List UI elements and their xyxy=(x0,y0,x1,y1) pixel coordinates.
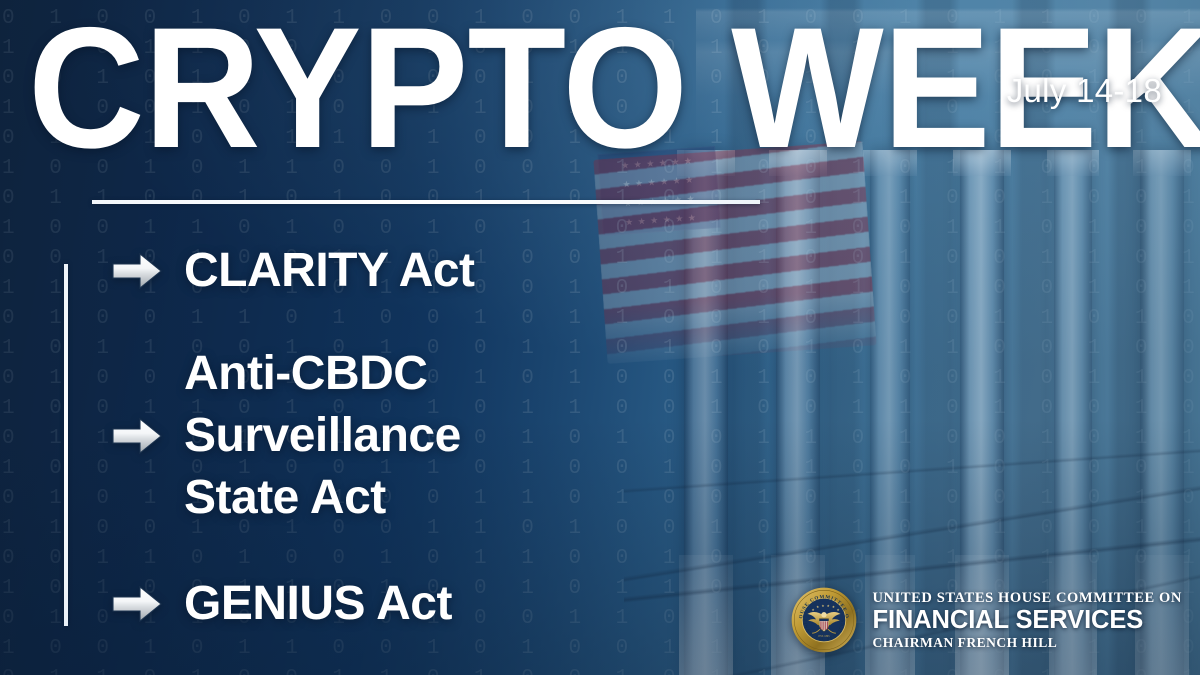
arrow-right-icon xyxy=(112,585,162,623)
list-item-label: CLARITY Act xyxy=(184,240,475,301)
committee-logo-lockup: HOUSE COMMITTEE ON FINANCIAL SERVICES ★★… xyxy=(791,587,1182,653)
bill-list: CLARITY Act Anti-CBDC Surveillance State… xyxy=(112,236,732,634)
list-item: Anti-CBDC Surveillance State Act xyxy=(112,343,732,529)
arrow-right-icon xyxy=(112,252,162,290)
list-item: CLARITY Act xyxy=(112,240,732,301)
logo-line-2: FINANCIAL SERVICES xyxy=(872,607,1182,634)
list-item-label: Anti-CBDC Surveillance State Act xyxy=(184,343,461,529)
logo-text-block: UNITED STATES HOUSE COMMITTEE ON FINANCI… xyxy=(872,590,1182,651)
list-item: GENIUS Act xyxy=(112,573,732,634)
list-item-label: GENIUS Act xyxy=(184,573,452,634)
svg-text:EST. 1865: EST. 1865 xyxy=(819,635,831,638)
logo-line-1: UNITED STATES HOUSE COMMITTEE ON xyxy=(872,590,1182,607)
date-label: July 14-18 xyxy=(1007,72,1162,110)
house-committee-financial-services-seal-icon: HOUSE COMMITTEE ON FINANCIAL SERVICES ★★… xyxy=(791,587,857,653)
crypto-week-graphic: 0 1 0 0 1 0 1 1 0 0 1 0 0 1 1 0 1 0 0 1 … xyxy=(0,0,1200,675)
logo-line-3: CHAIRMAN FRENCH HILL xyxy=(872,635,1182,651)
horizontal-divider xyxy=(92,200,760,204)
arrow-right-icon xyxy=(112,417,162,455)
vertical-divider xyxy=(64,264,68,626)
